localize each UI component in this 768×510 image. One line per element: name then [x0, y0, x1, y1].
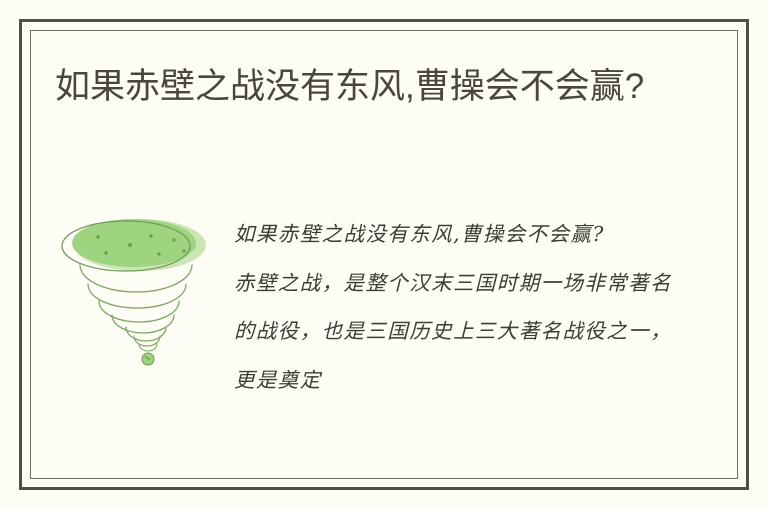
article-card: 如果赤壁之战没有东风,曹操会不会赢? — [19, 19, 749, 490]
page-title: 如果赤壁之战没有东风,曹操会不会赢? — [55, 58, 695, 115]
article-body: 如果赤壁之战没有东风,曹操会不会赢? 赤壁之战，是整个汉末三国时期一场非常著名的… — [234, 210, 686, 404]
tornado-icon — [58, 212, 210, 372]
